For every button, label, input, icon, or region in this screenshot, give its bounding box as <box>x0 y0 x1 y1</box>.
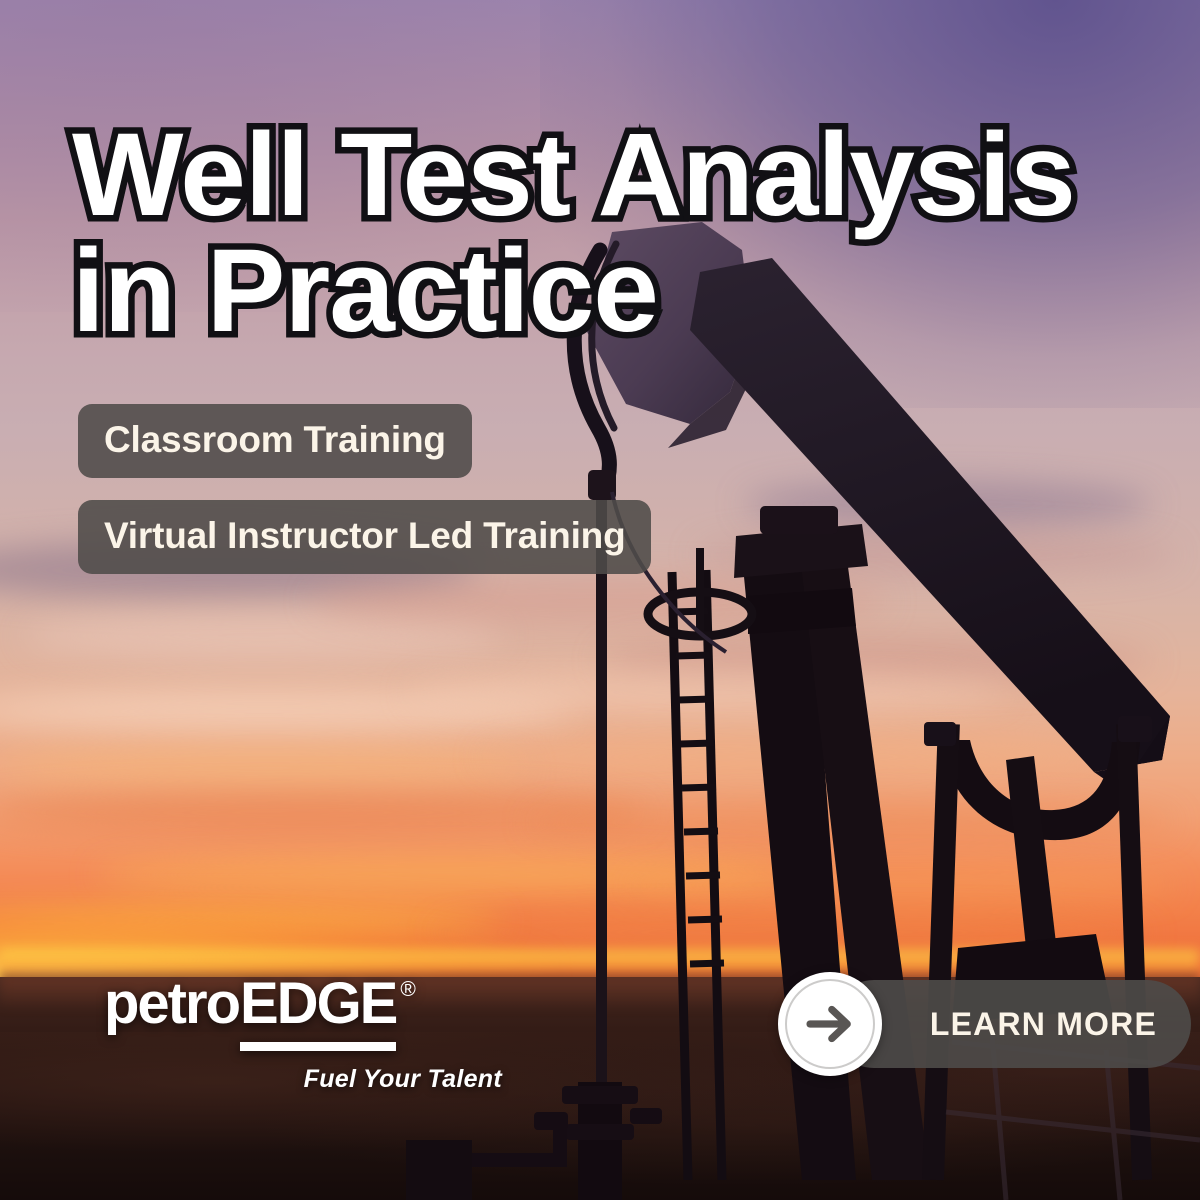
cta-circle-button[interactable] <box>778 972 882 1076</box>
wellhead-flange <box>566 1124 634 1140</box>
cradle-support-leg <box>1116 724 1152 1180</box>
logo-word-edge: EDGE <box>240 975 396 1051</box>
petroedge-logo: petro EDGE ® Fuel Your Talent <box>104 975 504 1094</box>
delivery-mode-badges: Classroom Training Virtual Instructor Le… <box>78 404 651 596</box>
ladder-rail <box>672 572 688 1180</box>
registered-trademark-icon: ® <box>400 979 413 1000</box>
samson-post-brace <box>748 588 856 634</box>
logo-word-petro: petro <box>104 975 239 1033</box>
cradle-knuckle <box>924 722 956 746</box>
promo-banner: Well Test Analysis in Practice Classroom… <box>0 0 1200 1200</box>
site-equipment <box>406 1140 472 1200</box>
headline-title: Well Test Analysis in Practice <box>72 118 1162 349</box>
learn-more-cta[interactable]: LEARN MORE <box>778 972 882 1076</box>
badge-virtual-instructor-led-training: Virtual Instructor Led Training <box>78 500 651 574</box>
wellhead-flange <box>562 1086 638 1104</box>
logo-wordmark: petro EDGE ® <box>104 975 504 1051</box>
cta-label: LEARN MORE <box>930 1006 1157 1043</box>
badge-classroom-training: Classroom Training <box>78 404 472 478</box>
saddle-cap <box>760 506 838 534</box>
wellhead-valve <box>630 1108 662 1124</box>
cradle-knuckle <box>1118 716 1152 742</box>
pitman-arm <box>1006 756 1058 966</box>
cta-pill[interactable]: LEARN MORE <box>830 980 1191 1068</box>
logo-tagline: Fuel Your Talent <box>104 1065 504 1094</box>
arrow-right-icon <box>801 995 859 1053</box>
